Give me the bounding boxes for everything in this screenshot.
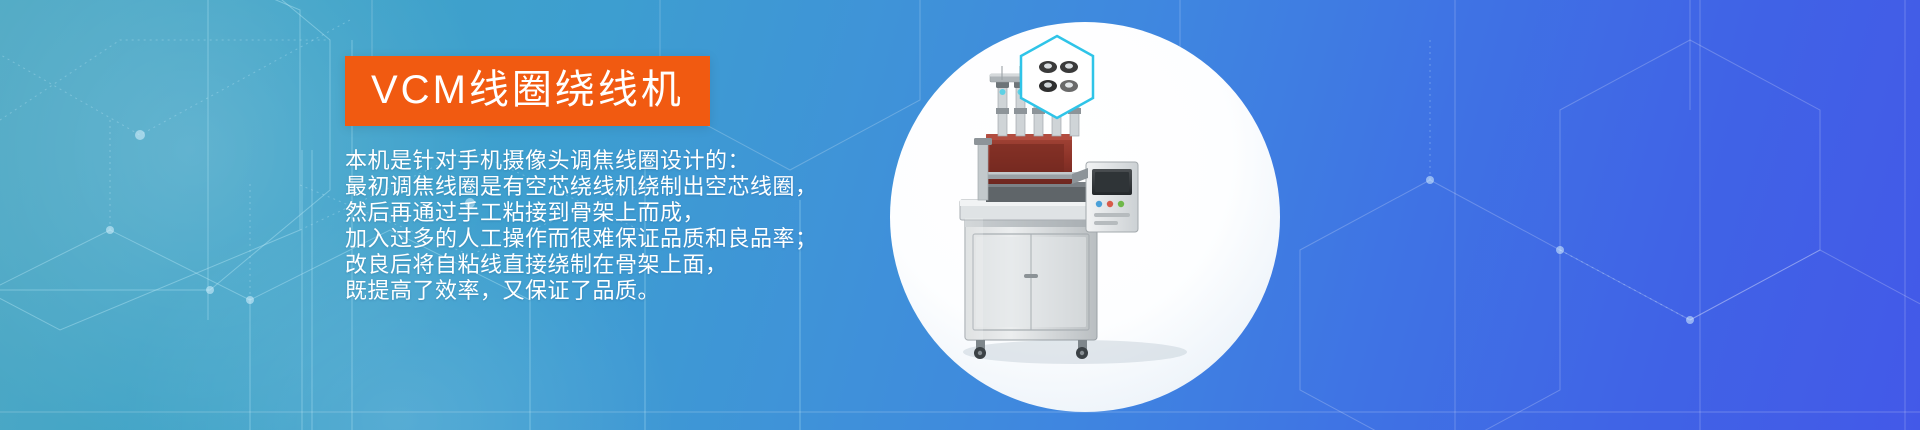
page-title: VCM线圈绕线机 <box>371 70 684 110</box>
hexagon-badge-icon <box>1018 34 1096 120</box>
banner-text-column: VCM线圈绕线机 本机是针对手机摄像头调焦线圈设计的： 最初调焦线圈是有空芯绕线… <box>345 56 965 304</box>
title-badge: VCM线圈绕线机 <box>345 56 710 126</box>
description-line: 然后再通过手工粘接到骨架上而成， <box>345 200 965 226</box>
description-line: 最初调焦线圈是有空芯绕线机绕制出空芯线圈， <box>345 174 965 200</box>
description-line: 本机是针对手机摄像头调焦线圈设计的： <box>345 148 965 174</box>
description-line: 改良后将自粘线直接绕制在骨架上面， <box>345 252 965 278</box>
promo-banner: .sl{fill:none;stroke:#bfeaf7;stroke-widt… <box>0 0 1920 430</box>
description-line: 加入过多的人工操作而很难保证品质和良品率； <box>345 226 965 252</box>
description-block: 本机是针对手机摄像头调焦线圈设计的： 最初调焦线圈是有空芯绕线机绕制出空芯线圈，… <box>345 148 965 304</box>
description-line: 既提高了效率，又保证了品质。 <box>345 278 965 304</box>
